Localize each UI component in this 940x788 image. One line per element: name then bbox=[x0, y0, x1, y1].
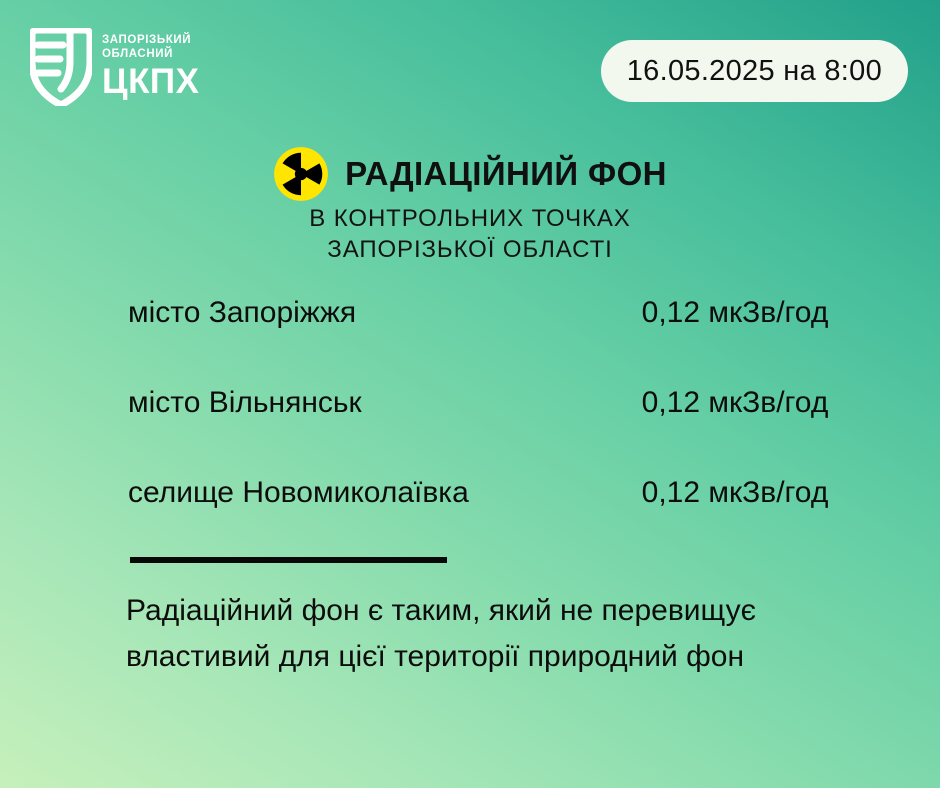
reading-place-label: селище Новомиколаївка bbox=[128, 476, 608, 510]
readings-list: місто Запоріжжя 0,12 мкЗв/год місто Віль… bbox=[128, 296, 862, 566]
logo-wordmark: ЗАПОРІЗЬКИЙ ОБЛАСНИЙ ЦКПХ bbox=[102, 35, 199, 99]
heading-subtitle-line-2: ЗАПОРІЗЬКОЇ ОБЛАСТІ bbox=[0, 235, 940, 266]
shield-logo-icon bbox=[30, 28, 92, 106]
reading-row: місто Запоріжжя 0,12 мкЗв/год bbox=[128, 296, 862, 386]
footnote: Радіаційний фон є таким, який не перевищ… bbox=[126, 588, 878, 679]
reading-value: 0,12 мкЗв/год bbox=[608, 386, 862, 420]
section-divider bbox=[130, 557, 447, 563]
reading-row: селище Новомиколаївка 0,12 мкЗв/год bbox=[128, 476, 862, 566]
reading-row: місто Вільнянськ 0,12 мкЗв/год bbox=[128, 386, 862, 476]
organization-logo: ЗАПОРІЗЬКИЙ ОБЛАСНИЙ ЦКПХ bbox=[30, 28, 199, 106]
reading-value: 0,12 мкЗв/год bbox=[608, 476, 862, 510]
reading-place-label: місто Запоріжжя bbox=[128, 296, 608, 330]
footnote-line-1: Радіаційний фон є таким, який не перевищ… bbox=[126, 588, 878, 634]
poster-heading: РАДІАЦІЙНИЙ ФОН В КОНТРОЛЬНИХ ТОЧКАХ ЗАП… bbox=[0, 146, 940, 265]
date-badge: 16.05.2025 на 8:00 bbox=[601, 40, 908, 102]
logo-line-2: ОБЛАСНИЙ bbox=[102, 49, 199, 61]
heading-subtitle-line-1: В КОНТРОЛЬНИХ ТОЧКАХ bbox=[0, 204, 940, 235]
radiation-trefoil-icon bbox=[273, 146, 329, 202]
date-badge-text: 16.05.2025 на 8:00 bbox=[627, 55, 882, 88]
reading-value: 0,12 мкЗв/год bbox=[608, 296, 862, 330]
logo-line-1: ЗАПОРІЗЬКИЙ bbox=[102, 35, 199, 47]
page-title: РАДІАЦІЙНИЙ ФОН bbox=[345, 155, 667, 193]
reading-place-label: місто Вільнянськ bbox=[128, 386, 608, 420]
logo-acronym: ЦКПХ bbox=[102, 64, 199, 99]
radiation-background-poster: ЗАПОРІЗЬКИЙ ОБЛАСНИЙ ЦКПХ 16.05.2025 на … bbox=[0, 0, 940, 788]
heading-title-row: РАДІАЦІЙНИЙ ФОН bbox=[0, 146, 940, 202]
footnote-line-2: властивий для цієї території природний ф… bbox=[126, 634, 878, 680]
